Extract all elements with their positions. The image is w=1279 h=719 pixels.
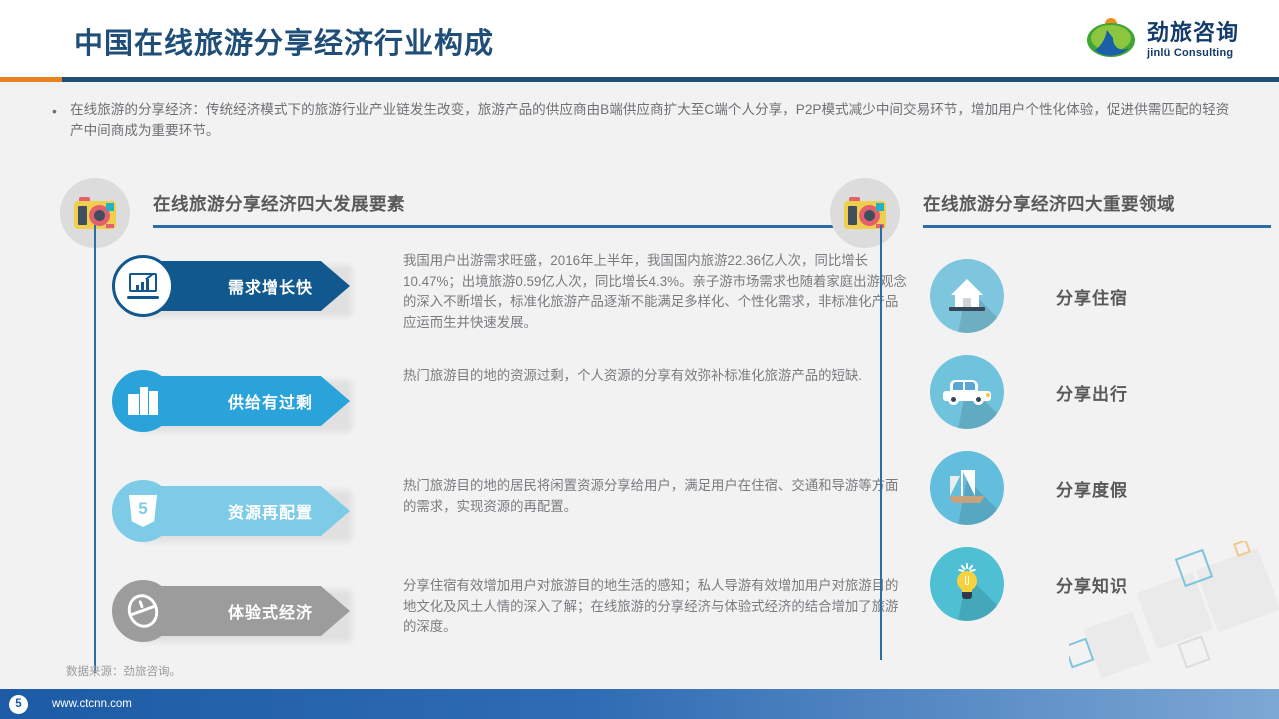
right-column: 在线旅游分享经济四大重要领域 xyxy=(830,178,1250,250)
domain-icon-circle xyxy=(930,547,1004,621)
domain-row[interactable]: 分享住宿 xyxy=(930,248,1260,344)
page-title: 中国在线旅游分享经济行业构成 xyxy=(74,20,494,62)
factor-icon-circle xyxy=(112,370,174,432)
bullet-marker: • xyxy=(52,101,57,122)
left-connector-line xyxy=(94,225,96,673)
factor-badge[interactable]: 体验式经济 xyxy=(112,580,352,642)
factor-description: 分享住宿有效增加用户对旅游目的地生活的感知；私人导游有效增加用户对旅游目的地文化… xyxy=(403,576,908,638)
header-rule-orange xyxy=(0,77,62,82)
mouse-icon xyxy=(123,590,163,632)
footer-url[interactable]: www.ctcnn.com xyxy=(52,698,132,710)
domain-icon-circle xyxy=(930,451,1004,525)
right-connector-line xyxy=(880,225,882,660)
factor-icon-circle xyxy=(112,255,174,317)
factor-label: 资源再配置 xyxy=(228,499,313,523)
factor-icon-circle: 5 xyxy=(112,480,174,542)
factor-badge[interactable]: 需求增长快 xyxy=(112,255,352,317)
intro-paragraph: • 在线旅游的分享经济：传统经济模式下的旅游行业产业链发生改变，旅游产品的供应商… xyxy=(52,99,1232,141)
sailboat-icon xyxy=(949,470,985,506)
camera-icon xyxy=(830,178,900,248)
logo-text-en: jinlü Consulting xyxy=(1147,48,1239,59)
domain-row[interactable]: 分享出行 xyxy=(930,344,1260,440)
left-section-header: 在线旅游分享经济四大发展要素 xyxy=(60,178,860,250)
intro-text: 在线旅游的分享经济：传统经济模式下的旅游行业产业链发生改变，旅游产品的供应商由B… xyxy=(52,99,1232,141)
right-section-header: 在线旅游分享经济四大重要领域 xyxy=(830,178,1250,250)
domain-label: 分享知识 xyxy=(1056,572,1128,597)
factor-label: 体验式经济 xyxy=(228,599,313,623)
slide-header: 中国在线旅游分享经济行业构成 劲旅咨询 jinlü Consulting xyxy=(0,0,1279,82)
left-section-title: 在线旅游分享经济四大发展要素 xyxy=(153,191,405,216)
domain-row[interactable]: 分享度假 xyxy=(930,440,1260,536)
factor-badge[interactable]: 资源再配置 5 xyxy=(112,480,352,542)
factor-description: 我国用户出游需求旺盛，2016年上半年，我国国内旅游22.36亿人次，同比增长1… xyxy=(403,251,908,333)
factor-label: 供给有过剩 xyxy=(228,389,313,413)
page-number-badge: 5 xyxy=(9,695,28,714)
house-icon xyxy=(947,279,987,313)
logo-mark-icon xyxy=(1085,16,1139,64)
car-icon xyxy=(943,379,991,405)
right-section-underline xyxy=(923,225,1271,228)
factor-badge[interactable]: 供给有过剩 xyxy=(112,370,352,432)
left-column: 在线旅游分享经济四大发展要素 xyxy=(60,178,860,250)
logo-text-cn: 劲旅咨询 xyxy=(1147,22,1239,44)
brand-logo: 劲旅咨询 jinlü Consulting xyxy=(1085,14,1239,66)
factor-description: 热门旅游目的地的居民将闲置资源分享给用户，满足用户在住宿、交通和导游等方面的需求… xyxy=(403,476,908,517)
header-rule-blue xyxy=(62,77,1279,82)
html5-shield-icon: 5 xyxy=(129,495,157,527)
factor-description: 热门旅游目的地的资源过剩，个人资源的分享有效弥补标准化旅游产品的短缺. xyxy=(403,366,908,387)
lightbulb-icon xyxy=(948,565,986,603)
domain-icon-circle xyxy=(930,355,1004,429)
domain-label: 分享住宿 xyxy=(1056,284,1128,309)
factor-icon-circle xyxy=(112,580,174,642)
buildings-icon xyxy=(128,387,158,415)
right-section-title: 在线旅游分享经济四大重要领域 xyxy=(923,191,1175,216)
left-section-underline xyxy=(153,225,860,228)
domain-icon-circle xyxy=(930,259,1004,333)
slide-footer: 5 www.ctcnn.com xyxy=(0,689,1279,719)
source-note: 数据来源：劲旅咨询。 xyxy=(66,663,181,679)
domain-label: 分享度假 xyxy=(1056,476,1128,501)
factor-label: 需求增长快 xyxy=(228,274,313,298)
laptop-chart-icon xyxy=(127,273,159,299)
domain-label: 分享出行 xyxy=(1056,380,1128,405)
domain-row[interactable]: 分享知识 xyxy=(930,536,1260,632)
